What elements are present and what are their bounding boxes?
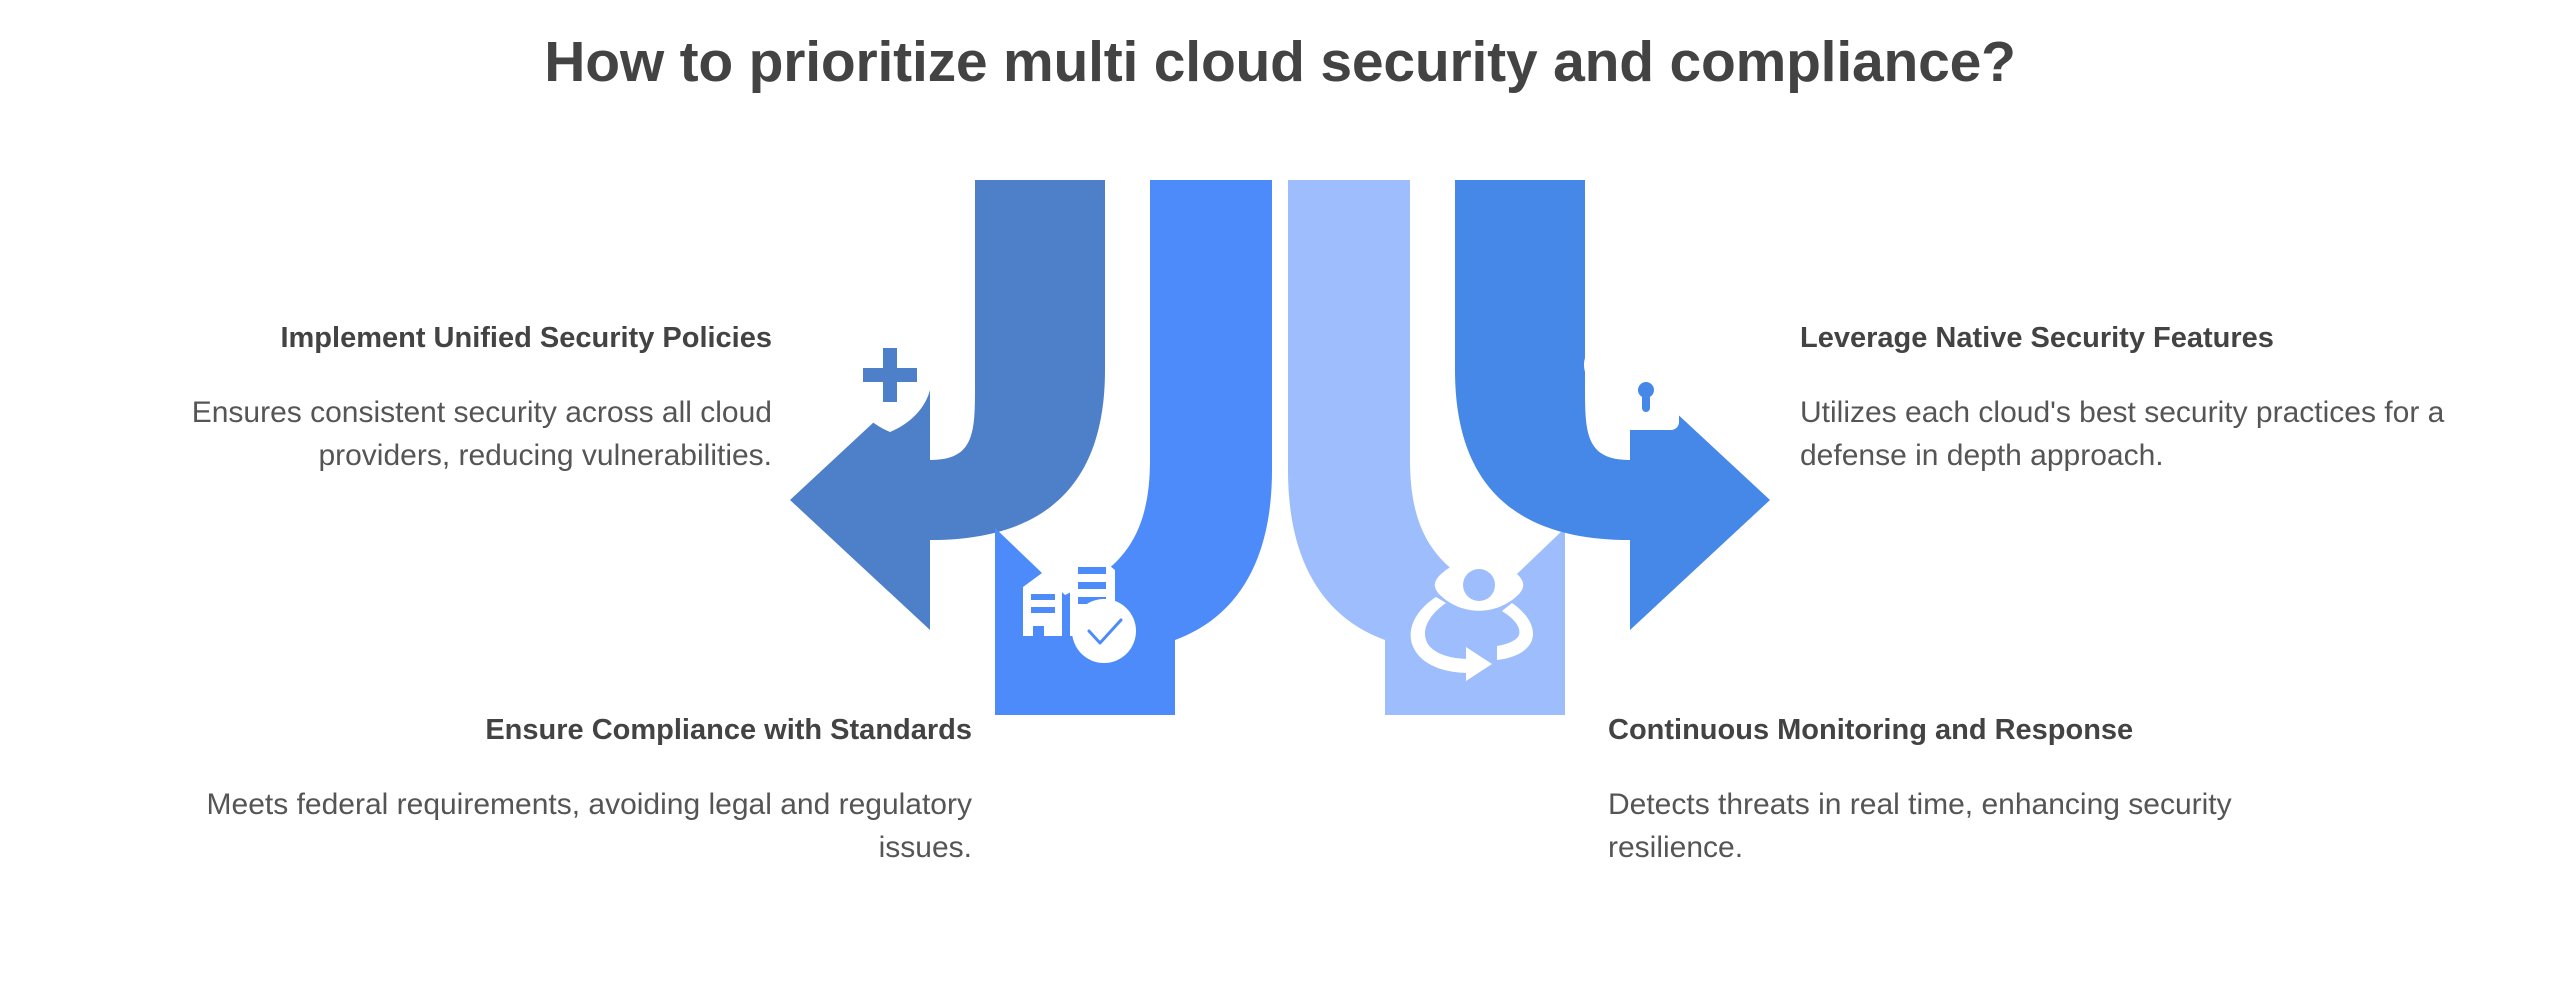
arrow-outer-left-shape: [790, 180, 1105, 630]
block-heading: Ensure Compliance with Standards: [180, 712, 972, 748]
block-heading: Continuous Monitoring and Response: [1608, 712, 2368, 748]
block-body: Utilizes each cloud's best security prac…: [1800, 392, 2500, 477]
arrow-diagram: [780, 170, 1780, 730]
block-heading: Leverage Native Security Features: [1800, 320, 2500, 356]
infographic-canvas: How to prioritize multi cloud security a…: [0, 0, 2560, 998]
block-body: Detects threats in real time, enhancing …: [1608, 784, 2368, 869]
cloud-lock-icon: [1584, 307, 1709, 430]
block-heading: Implement Unified Security Policies: [60, 320, 772, 356]
arrow-outer-left[interactable]: [790, 180, 1105, 630]
block-implement-unified-security-policies: Implement Unified Security Policies Ensu…: [60, 320, 772, 477]
arrow-outer-right-shape: [1455, 180, 1770, 630]
block-leverage-native-security-features: Leverage Native Security Features Utiliz…: [1800, 320, 2500, 477]
block-continuous-monitoring-and-response: Continuous Monitoring and Response Detec…: [1608, 712, 2368, 869]
page-title: How to prioritize multi cloud security a…: [0, 30, 2560, 96]
block-ensure-compliance-with-standards: Ensure Compliance with Standards Meets f…: [180, 712, 972, 869]
cloud-shield-plus-icon: [828, 294, 953, 432]
arrow-outer-right[interactable]: [1455, 180, 1770, 630]
block-body: Ensures consistent security across all c…: [60, 392, 772, 477]
block-body: Meets federal requirements, avoiding leg…: [180, 784, 972, 869]
